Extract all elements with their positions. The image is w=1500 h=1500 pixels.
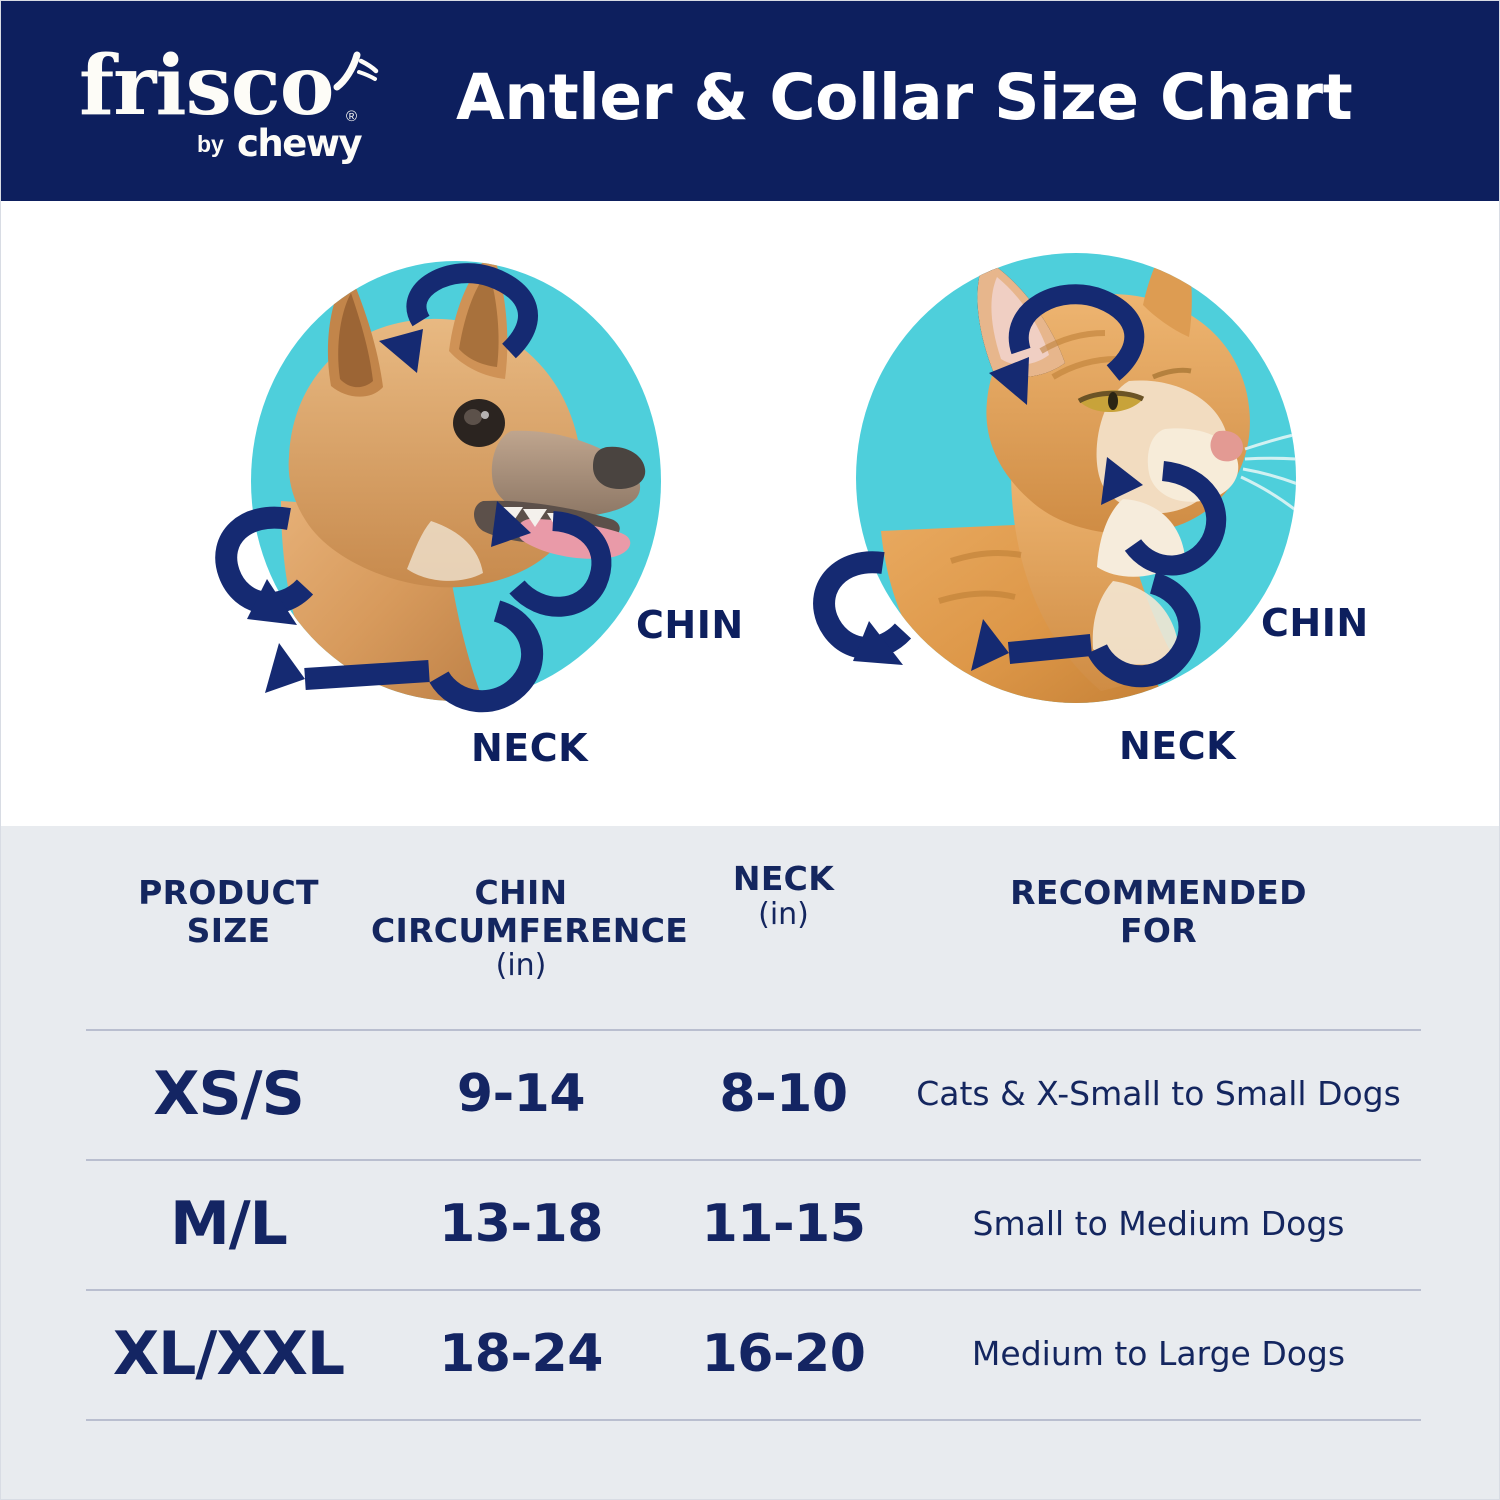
neck-arrowhead-bottom [265,643,305,693]
column-header-chin-circumference: CHIN CIRCUMFERENCE (in) [371,826,671,983]
column-header-neck-unit: (in) [671,898,896,932]
dog-measurement-illustration: CHIN NECK [31,201,731,826]
cat-chin-label: CHIN [1261,604,1369,642]
column-header-chin-line2: CIRCUMFERENCE [371,911,688,950]
table-divider [86,1159,1421,1161]
cell-product-size: XS/S [86,1059,371,1129]
cat-photo-and-arrows [761,201,1461,826]
table-row: XL/XXL 18-24 16-20 Medium to Large Dogs [86,1289,1421,1419]
cell-recommended-for: Cats & X-Small to Small Dogs [896,1074,1421,1114]
dog-chin-label: CHIN [636,606,744,644]
frisco-logo: frisco ® by chewy [79,45,379,163]
column-header-neck-line1: NECK [733,859,834,898]
size-table-area: PRODUCT SIZE CHIN CIRCUMFERENCE (in) NEC… [1,826,1500,1500]
size-table: PRODUCT SIZE CHIN CIRCUMFERENCE (in) NEC… [86,826,1421,1419]
table-header-row: PRODUCT SIZE CHIN CIRCUMFERENCE (in) NEC… [86,826,1421,1029]
cell-neck: 11-15 [671,1194,896,1254]
column-header-chin-unit: (in) [371,949,671,983]
table-row: XS/S 9-14 8-10 Cats & X-Small to Small D… [86,1029,1421,1159]
column-header-recommended-for: RECOMMENDED FOR [896,826,1421,949]
page-title: Antler & Collar Size Chart [456,63,1456,134]
size-chart-infographic: frisco ® by chewy Antler & Collar Size C… [0,0,1500,1500]
cell-recommended-for: Small to Medium Dogs [896,1204,1421,1244]
illustration-area: CHIN NECK [1,201,1500,826]
cell-product-size: XL/XXL [86,1319,371,1389]
table-row: M/L 13-18 11-15 Small to Medium Dogs [86,1159,1421,1289]
header-band: frisco ® by chewy Antler & Collar Size C… [1,1,1500,201]
frisco-swish-icon [331,47,379,93]
column-header-product-size-line1: PRODUCT [138,873,319,912]
cat-neck-label: NECK [1119,727,1236,765]
column-header-product-size: PRODUCT SIZE [86,826,371,949]
frisco-logo-by: by [197,133,224,156]
column-header-recommended-line2: FOR [1120,911,1197,950]
cat-measurement-illustration: CHIN NECK [761,201,1461,826]
column-header-chin-line1: CHIN [475,873,568,912]
table-divider [86,1029,1421,1031]
table-divider [86,1419,1421,1421]
cell-neck: 16-20 [671,1324,896,1384]
cell-chin-circumference: 13-18 [371,1194,671,1254]
cell-neck: 8-10 [671,1064,896,1124]
chewy-wordmark: chewy [237,125,361,162]
cell-chin-circumference: 9-14 [371,1064,671,1124]
column-header-neck: NECK (in) [671,826,896,932]
column-header-recommended-line1: RECOMMENDED [1010,873,1307,912]
cell-product-size: M/L [86,1189,371,1259]
table-divider [86,1289,1421,1291]
frisco-wordmark: frisco [79,45,333,127]
cell-recommended-for: Medium to Large Dogs [896,1334,1421,1374]
cell-chin-circumference: 18-24 [371,1324,671,1384]
dog-photo-and-arrows [31,201,731,826]
column-header-product-size-line2: SIZE [187,911,271,950]
dog-neck-label: NECK [471,729,588,767]
